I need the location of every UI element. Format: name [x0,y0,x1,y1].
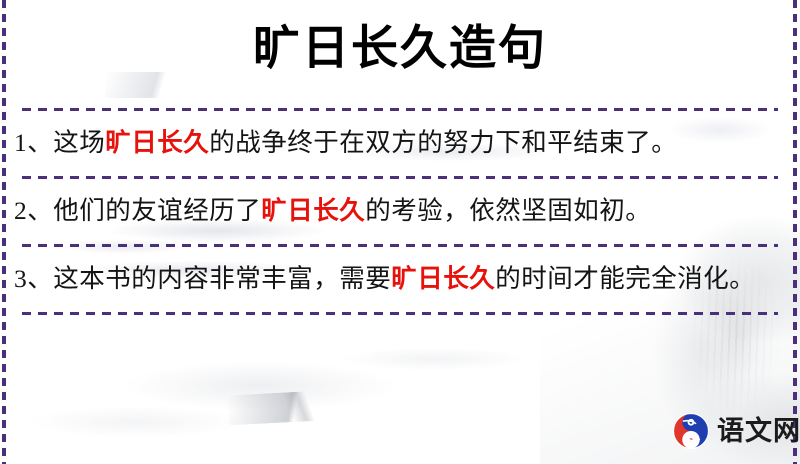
dashed-border-left [2,0,6,464]
dashed-border-right [793,0,797,464]
sentence-keyword: 旷日长久 [105,128,209,157]
watermark-mist [0,314,620,464]
site-logo[interactable]: 语文网 [672,412,800,450]
sentence-keyword: 旷日长久 [391,264,495,293]
sentence-keyword: 旷日长久 [261,196,365,225]
site-logo-text: 语文网 [717,418,800,445]
watermark-bird [227,389,358,426]
sentence-text-after: 的考验，依然坚固如初。 [365,196,651,225]
sentence-example-page: 旷日长久造句 1、这场旷日长久的战争终于在双方的努力下和平结束了。 2、他们的友… [0,0,800,464]
sentence-list: 1、这场旷日长久的战争终于在双方的努力下和平结束了。 2、他们的友谊经历了旷日长… [0,108,800,315]
sentence-text-after: 的战争终于在双方的努力下和平结束了。 [209,128,677,157]
page-title: 旷日长久造句 [0,18,800,80]
list-item: 1、这场旷日长久的战争终于在双方的努力下和平结束了。 [0,111,800,176]
sentence-text-after: 的时间才能完全消化。 [495,264,755,293]
dashed-divider-4 [22,312,778,315]
sentence-number: 3、 [14,264,53,293]
sentence-number: 1、 [14,128,53,157]
sentence-number: 2、 [14,196,53,225]
list-item: 2、他们的友谊经历了旷日长久的考验，依然坚固如初。 [0,179,800,244]
yin-yang-circle-logo-icon [672,412,710,450]
list-item: 3、这本书的内容非常丰富，需要旷日长久的时间才能完全消化。 [0,247,800,312]
sentence-text-before: 这本书的内容非常丰富，需要 [53,264,391,293]
sentence-text-before: 这场 [53,128,105,157]
sentence-text-before: 他们的友谊经历了 [53,196,261,225]
